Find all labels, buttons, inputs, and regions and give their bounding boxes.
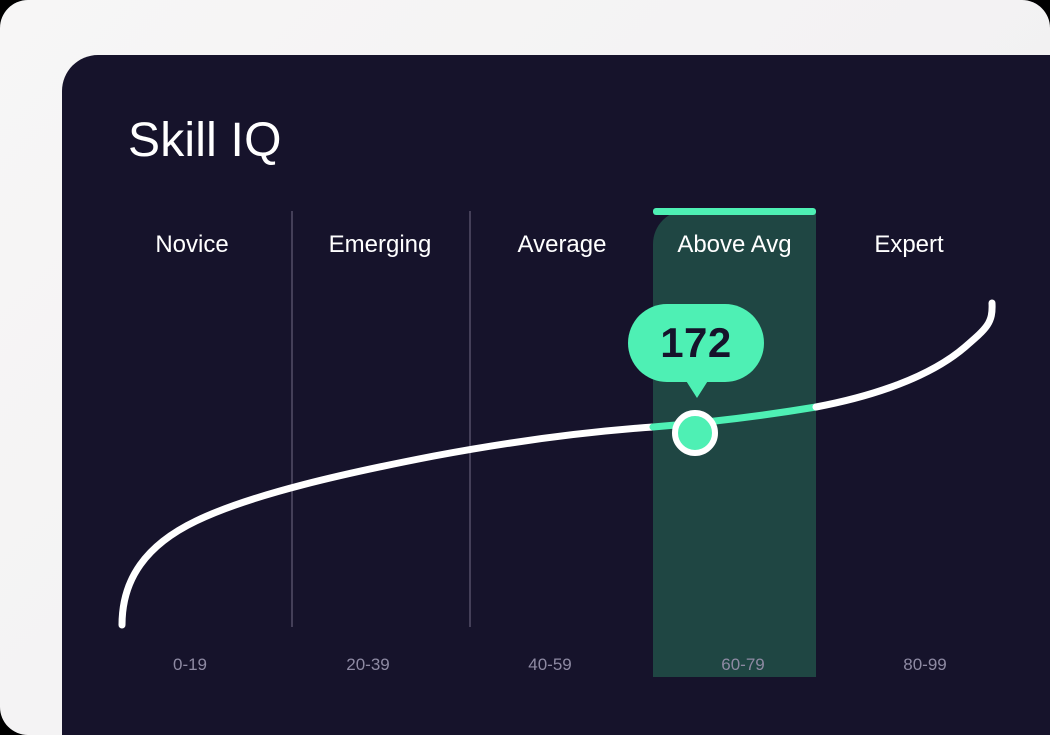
skill-iq-card: Skill IQ Novice Emerging Average Above A… [62, 55, 1050, 735]
score-tooltip: 172 [628, 304, 764, 400]
axis-tick-80-99: 80-99 [855, 655, 995, 675]
score-value: 172 [660, 322, 732, 364]
score-marker-dot [672, 410, 718, 456]
curve-segment-left-white [122, 427, 653, 625]
skill-iq-card-inner: Skill IQ Novice Emerging Average Above A… [62, 55, 1050, 735]
score-tooltip-pointer [683, 376, 711, 398]
axis-tick-0-19: 0-19 [120, 655, 260, 675]
axis-tick-20-39: 20-39 [298, 655, 438, 675]
screenshot-stage: Skill IQ Novice Emerging Average Above A… [0, 0, 1050, 735]
axis-tick-60-79: 60-79 [673, 655, 813, 675]
score-tooltip-body: 172 [628, 304, 764, 382]
curve-segment-right-white [816, 303, 992, 407]
axis-tick-40-59: 40-59 [480, 655, 620, 675]
skill-curve [62, 55, 1050, 735]
